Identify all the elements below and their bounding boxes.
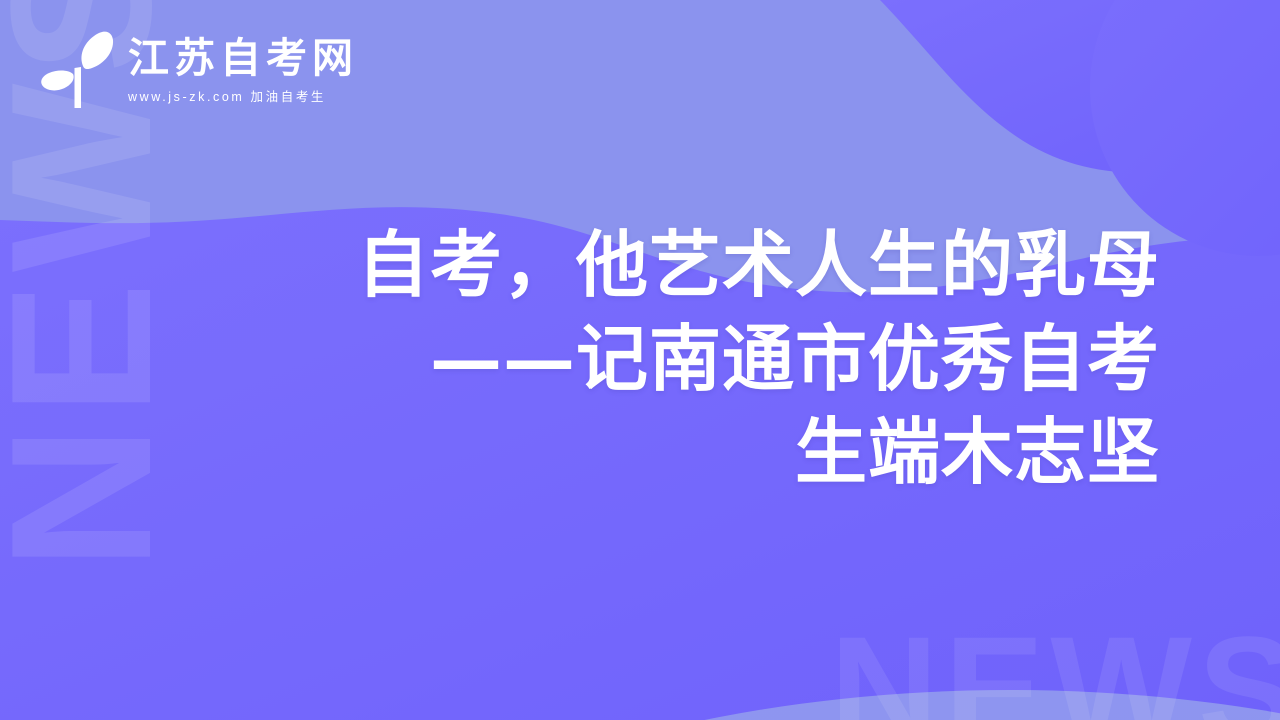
- brand-subtitle: www.js-zk.com 加油自考生: [128, 91, 358, 104]
- page-title: 自考，他艺术人生的乳母 ——记南通市优秀自考 生端木志坚: [120, 218, 1160, 499]
- headline-line-2: ——记南通市优秀自考: [120, 312, 1160, 406]
- logo-text-block: 江苏自考网 www.js-zk.com 加油自考生: [128, 34, 358, 103]
- headline-line-3: 生端木志坚: [120, 405, 1160, 499]
- sprout-icon: [36, 26, 114, 112]
- news-banner: NEWS NEWS 江苏自考网 www.js-zk.com 加油自考生 自考，他…: [0, 0, 1280, 720]
- site-logo[interactable]: 江苏自考网 www.js-zk.com 加油自考生: [36, 26, 358, 112]
- watermark-news-bottom-right: NEWS: [830, 614, 1280, 720]
- brand-name: 江苏自考网: [128, 36, 358, 82]
- headline-line-1: 自考，他艺术人生的乳母: [120, 218, 1160, 312]
